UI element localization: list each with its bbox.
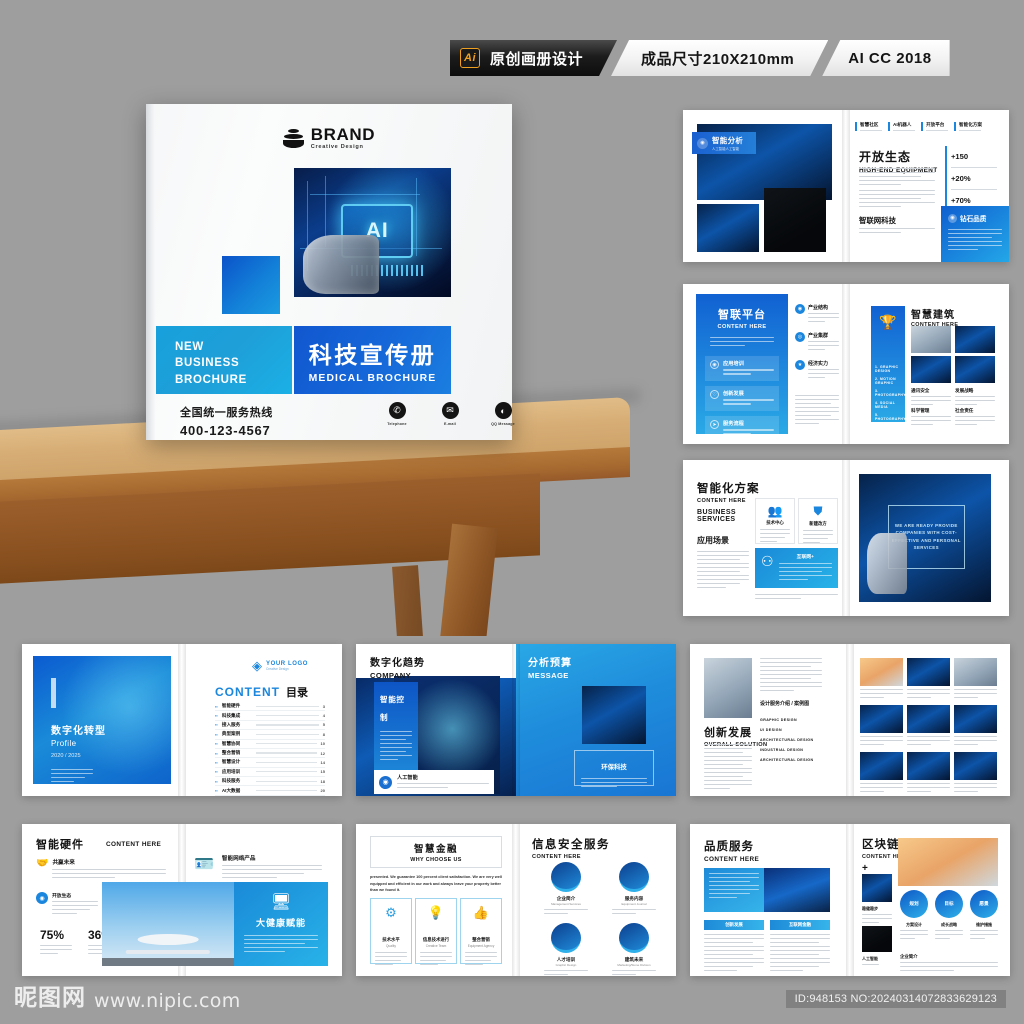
s2-item-1-icon: ♡ bbox=[710, 390, 719, 399]
s3-hero-photo: WE ARE READY PROVIDE COMPANIES WITH COST… bbox=[859, 474, 991, 602]
spread-smart-solution: 智能化方案 CONTENT HERE BUSINESS SERVICES 应用场… bbox=[683, 460, 1009, 616]
toc-bullet-icon: ▪▪ bbox=[215, 751, 218, 756]
feature-circle-lines bbox=[544, 970, 588, 975]
toc-page: 18 bbox=[321, 779, 325, 784]
s8-right-en: CONTENT HERE bbox=[532, 854, 610, 860]
book-spine bbox=[146, 104, 155, 440]
s1-badge: ◉ 智能分析 人工智能人工智能 bbox=[692, 132, 756, 154]
toc-dots bbox=[256, 715, 319, 716]
grid-cell-image bbox=[907, 752, 950, 780]
s7-panel: 🖥 大健康赋能 bbox=[234, 882, 328, 966]
s1-photo-2 bbox=[697, 204, 759, 252]
s8-card-0: ⚙ 技术水平 Quality bbox=[370, 898, 412, 964]
s2-item-2-icon: ➤ bbox=[710, 420, 719, 429]
toc-bullet-icon: ▪▪ bbox=[215, 722, 218, 727]
toc-page: 5 bbox=[323, 722, 325, 727]
s7-airplane-photo bbox=[102, 882, 234, 966]
s3-title-block: 智能化方案 CONTENT HERE BUSINESS SERVICES 应用场… bbox=[697, 480, 760, 591]
s5-box: 环保科技 bbox=[574, 750, 654, 786]
s5-panel-cn: 智能控制 bbox=[380, 695, 405, 722]
s3-card-0: 👥 技术中心 bbox=[755, 498, 795, 544]
feature-circle: 企业简介Management Services bbox=[532, 862, 600, 917]
s1-badge-title: 智能分析 bbox=[712, 135, 743, 146]
s3-title-en2: BUSINESS bbox=[697, 509, 760, 516]
step-circle-label: 愿景 bbox=[979, 901, 988, 907]
toc-bullet-icon: ▪▪ bbox=[215, 788, 218, 793]
grid-cell-image bbox=[954, 658, 997, 686]
step-circle-badge: 规划 bbox=[900, 890, 928, 918]
s5-panel: 智能控制 READ MORE YOUR TITLE HERE bbox=[374, 682, 418, 780]
s1-stat-1: +20% bbox=[945, 168, 997, 190]
monitor-icon: 🖥 bbox=[244, 892, 318, 912]
ribbon-tag3-label: AI CC 2018 bbox=[848, 50, 931, 67]
s7-panel-cn: 大健康赋能 bbox=[244, 916, 318, 929]
toc-page: 15 bbox=[321, 769, 325, 774]
s6-services: GRAPHIC DESIGN UI DESIGN ARCHITECTURAL D… bbox=[760, 712, 822, 762]
ribbon-tag-size: 成品尺寸210X210mm bbox=[611, 40, 828, 76]
grid-cell-lines bbox=[954, 736, 997, 745]
spread-digital-trend: 数字化趋势 COMPANY 智能控制 READ MORE YOUR TITLE … bbox=[356, 644, 676, 796]
s4-left-cover: 数字化转型 Profile 2020 / 2025 bbox=[33, 656, 171, 784]
s7-title-en: CONTENT HERE bbox=[106, 841, 161, 848]
s4-left-year: 2020 / 2025 bbox=[51, 753, 106, 759]
s2-mid-1: ◎ 产业集群 bbox=[795, 332, 839, 353]
shield-icon: ⛊ bbox=[803, 504, 833, 519]
toc-page: 14 bbox=[321, 760, 325, 765]
brochure-cover: BRAND Creative Design AI NEW BUSINESS BR… bbox=[146, 104, 512, 440]
toc-dots bbox=[256, 790, 317, 791]
s3-title-cn: 智能化方案 bbox=[697, 480, 760, 496]
toc-dots bbox=[256, 743, 317, 744]
s7-title-block: 智能硬件 CONTENT HERE bbox=[36, 836, 161, 852]
feature-circle-lines bbox=[544, 909, 588, 914]
toc-dots bbox=[256, 752, 317, 753]
toc-label: 科技服务 bbox=[222, 778, 252, 784]
cover-band-left: NEW BUSINESS BROCHURE bbox=[156, 326, 292, 394]
cover-band-line2: BUSINESS bbox=[175, 355, 292, 371]
s1-photo-3 bbox=[764, 188, 826, 252]
toc-row[interactable]: ▪▪科技服务18 bbox=[215, 777, 325, 786]
grid-cell-lines bbox=[860, 736, 903, 745]
step-circle-label: 目标 bbox=[944, 901, 953, 907]
s7-item-2-icon: ◉ bbox=[36, 892, 48, 904]
toc-bullet-icon: ▪▪ bbox=[215, 704, 218, 709]
s2-mid-2-icon: ★ bbox=[795, 360, 805, 370]
toc-label: 接入服务 bbox=[222, 722, 252, 728]
grid-cell-lines bbox=[860, 689, 903, 698]
s6-photo bbox=[704, 658, 752, 718]
toc-dots bbox=[256, 771, 317, 772]
toc-row[interactable]: ▪▪整合营销12 bbox=[215, 749, 325, 758]
s2-grid-img-0 bbox=[911, 326, 951, 353]
s9-circle-row: 规划方案设计目标成长战略愿景维护措施 bbox=[900, 890, 1000, 942]
toc-page: 12 bbox=[321, 751, 325, 756]
s3-title-en: CONTENT HERE bbox=[697, 498, 760, 504]
s5-tag: ◉ 人工智能 bbox=[374, 770, 494, 794]
spread-profile-toc: 数字化转型 Profile 2020 / 2025 ◈ YOUR LOGO Cr… bbox=[22, 644, 342, 796]
contact-email: ✉ E-mail bbox=[435, 402, 465, 426]
s9-title-en: CONTENT HERE bbox=[704, 856, 759, 863]
s1-panel: ◉ 钻石品质 bbox=[941, 206, 1009, 262]
grid-cell bbox=[860, 752, 903, 795]
qq-icon: ◐ bbox=[495, 402, 512, 419]
cover-blue-square bbox=[222, 256, 280, 314]
toc-bullet-icon: ▪▪ bbox=[215, 769, 218, 774]
s5-tag-icon: ◉ bbox=[379, 776, 392, 789]
grid-cell-image bbox=[860, 658, 903, 686]
s2-mid-0: ◉ 产业结构 bbox=[795, 304, 839, 325]
s8-title-en: WHY CHOOSE US bbox=[410, 857, 462, 863]
cover-band-line3: BROCHURE bbox=[175, 372, 292, 388]
s1-tab-row: 智慧社区 AI机器人 开放平台 智能化方案 bbox=[855, 122, 982, 131]
feature-circle: 服务内容Equipment Journal bbox=[600, 862, 668, 917]
grid-cell-image bbox=[860, 752, 903, 780]
diamond-logo-icon: ◈ bbox=[252, 658, 262, 674]
thumb-icon: 👍 bbox=[465, 905, 497, 921]
toc-page: 4 bbox=[323, 713, 325, 718]
step-circle-cap: 方案设计 bbox=[900, 922, 928, 928]
grid-cell bbox=[954, 752, 997, 795]
cover-title-cn: 科技宣传册 bbox=[309, 336, 437, 370]
s2-title-cn: 智联平台 bbox=[696, 306, 788, 322]
toc-label: 典型案例 bbox=[222, 731, 252, 737]
feature-circle-image bbox=[551, 862, 581, 892]
network-icon: ⚇ bbox=[761, 553, 774, 583]
s4-toc-list: ▪▪智能硬件3▪▪科技集成4▪▪接入服务5▪▪典型案例8▪▪智慧协同10▪▪整合… bbox=[215, 702, 325, 796]
toc-row[interactable]: ▪▪AI大数据20 bbox=[215, 786, 325, 795]
feature-circle-image bbox=[619, 862, 649, 892]
feature-circle-image bbox=[619, 923, 649, 953]
s1-body-2 bbox=[859, 190, 935, 210]
profile-card-icon: 🪪 bbox=[194, 854, 214, 881]
toc-row[interactable]: ▪▪智慧协同10 bbox=[215, 740, 325, 749]
toc-page: 8 bbox=[323, 732, 325, 737]
step-circle-lines bbox=[935, 930, 963, 939]
spread-quality-service: 品质服务 CONTENT HERE 创新发展 互联网金融 区块链技术 CONTE… bbox=[690, 824, 1010, 976]
people-icon: 👥 bbox=[760, 504, 790, 518]
s2-mid-list: ◉ 产业结构 ◎ 产业集群 ★ 经济实力 bbox=[795, 304, 839, 427]
phone-icon: ✆ bbox=[389, 402, 406, 419]
s1-tab-3[interactable]: 智能化方案 bbox=[954, 122, 982, 131]
s1-body-3 bbox=[859, 228, 935, 236]
s9-city-photo bbox=[764, 868, 830, 912]
s6-sub-cn: 设计服务介绍 / 案例图 bbox=[760, 700, 809, 707]
brand-name: BRAND bbox=[311, 126, 375, 143]
spread-smart-finance: 智慧金融 WHY CHOOSE US presented. We guarant… bbox=[356, 824, 676, 976]
s4-content-heading: CONTENT 目录 bbox=[215, 684, 308, 700]
spread-smart-hardware: 智能硬件 CONTENT HERE 🤝 共赢未来 ◉ 开放生态 75% 36% bbox=[22, 824, 342, 976]
toc-row[interactable]: ▪▪应用培训15 bbox=[215, 768, 325, 777]
s9-photo-small-1 bbox=[862, 874, 892, 902]
s9-tab-0[interactable]: 创新发展 bbox=[704, 920, 764, 930]
toc-dots bbox=[256, 734, 319, 735]
s6-title-cn: 创新发展 bbox=[704, 724, 767, 740]
s4-content-en: CONTENT bbox=[215, 685, 280, 699]
s8-right-cn: 信息安全服务 bbox=[532, 836, 610, 852]
toc-dots bbox=[256, 706, 319, 707]
s3-card-blue: ⚇ 互联网+ bbox=[755, 548, 838, 588]
toc-row[interactable]: ▪▪智慧设计14 bbox=[215, 758, 325, 767]
s7-item-1: 🤝 共赢未来 bbox=[36, 858, 166, 881]
grid-cell-image bbox=[954, 752, 997, 780]
robot-arm-graphic bbox=[303, 235, 378, 294]
s2-right-cn: 智慧建筑 bbox=[911, 306, 958, 321]
s5-right-cn: 分析预算 bbox=[528, 654, 572, 669]
s2-grid-img-1 bbox=[955, 326, 995, 353]
s5-title-block: 数字化趋势 COMPANY bbox=[370, 654, 425, 680]
asset-id-badge: ID:948153 NO:20240314072833629123 bbox=[786, 990, 1006, 1008]
feature-circle-lines bbox=[612, 909, 656, 914]
s4-logo: ◈ YOUR LOGO Creative Design bbox=[252, 658, 308, 674]
toc-label: 智慧协同 bbox=[222, 741, 252, 747]
s2-item-0: ◉ 应用培训 bbox=[705, 356, 779, 381]
toc-label: 智能硬件 bbox=[222, 703, 252, 709]
s4-left-cn: 数字化转型 bbox=[51, 722, 106, 737]
s5-tag-cn: 人工智能 bbox=[397, 774, 494, 781]
s8-right-title: 信息安全服务 CONTENT HERE bbox=[532, 836, 610, 860]
s2-left-panel: 智联平台 CONTENT HERE ◉ 应用培训 ♡ 创新发展 ➤ 服务流程 bbox=[696, 294, 788, 434]
cover-hero-image: AI bbox=[294, 168, 451, 297]
s2-item-0-icon: ◉ bbox=[710, 360, 719, 369]
grid-cell bbox=[907, 658, 950, 701]
s8-intro: presented. We guarantee 100 percent clie… bbox=[370, 874, 502, 894]
s3-sub-cn: 应用场景 bbox=[697, 535, 760, 546]
toc-dots bbox=[256, 781, 317, 782]
toc-bullet-icon: ▪▪ bbox=[215, 760, 218, 765]
s1-tab-1[interactable]: AI机器人 bbox=[888, 122, 915, 131]
cover-hotline: 全国统一服务热线 400-123-4567 bbox=[180, 404, 273, 438]
table-leg-rear bbox=[392, 565, 426, 636]
s5-box-cn: 环保科技 bbox=[601, 764, 627, 771]
step-circle-cap: 维护措施 bbox=[970, 922, 998, 928]
hotline-number: 400-123-4567 bbox=[180, 423, 273, 438]
s6-image-grid bbox=[860, 658, 1000, 795]
s9-building-photo bbox=[898, 838, 998, 886]
toc-page: 20 bbox=[321, 788, 325, 793]
step-circle: 目标成长战略 bbox=[935, 890, 963, 942]
cover-contact-icons: ✆ Telephone ✉ E-mail ◐ QQ Message bbox=[382, 402, 518, 426]
step-circle-lines bbox=[900, 930, 928, 939]
site-watermark: 昵图网 www.nipic.com bbox=[14, 978, 241, 1012]
s2-mid-1-icon: ◎ bbox=[795, 332, 805, 342]
s4-logo-sub: Creative Design bbox=[266, 667, 308, 671]
brand-logo: BRAND Creative Design bbox=[146, 126, 512, 151]
cover-title-en: MEDICAL BROCHURE bbox=[309, 373, 437, 384]
gears-icon: ⚙ bbox=[375, 905, 407, 921]
feature-circle-en: Graphic Design bbox=[532, 963, 600, 967]
s8-card-1: 💡 信息技术进行 Creative Team bbox=[415, 898, 457, 964]
grid-cell-image bbox=[907, 705, 950, 733]
cover-band-right: 科技宣传册 MEDICAL BROCHURE bbox=[294, 326, 451, 394]
step-circle-label: 规划 bbox=[909, 901, 918, 907]
s7-stat-1: 75% bbox=[40, 928, 72, 942]
hotline-label: 全国统一服务热线 bbox=[180, 404, 273, 420]
s2-mid-2: ★ 经济实力 bbox=[795, 360, 839, 381]
feature-circle-en: Equipment Journal bbox=[600, 902, 668, 906]
screenshot-root: Ai 原创画册设计 成品尺寸210X210mm AI CC 2018 BRAND… bbox=[0, 0, 1024, 1024]
s9-cap-2: 人工智能 bbox=[862, 956, 892, 968]
s2-item-1: ♡ 创新发展 bbox=[705, 386, 779, 411]
contact-qq-caption: QQ Message bbox=[488, 422, 518, 426]
grid-cell bbox=[860, 658, 903, 701]
s5-right-en: MESSAGE bbox=[528, 671, 572, 680]
toc-dots bbox=[256, 724, 319, 725]
feature-circle-en: Management Services bbox=[532, 902, 600, 906]
s7-item-2: ◉ 开放生态 bbox=[36, 892, 98, 917]
s2-right-title: 智慧建筑 CONTENT HERE bbox=[911, 306, 958, 328]
contact-qq: ◐ QQ Message bbox=[488, 402, 518, 426]
contact-telephone: ✆ Telephone bbox=[382, 402, 412, 426]
ribbon-tag-version: AI CC 2018 bbox=[822, 40, 949, 76]
step-circle-badge: 目标 bbox=[935, 890, 963, 918]
s9-cap-1: 稳健稳步 bbox=[862, 906, 892, 926]
s9-photo-small-2 bbox=[862, 926, 892, 952]
s1-title-cn: 开放生态 bbox=[859, 148, 938, 165]
toc-row[interactable]: ▪▪科技集成4 bbox=[215, 711, 325, 720]
toc-label: 应用培训 bbox=[222, 769, 252, 775]
toc-page: 3 bbox=[323, 704, 325, 709]
globe-icon bbox=[283, 128, 304, 149]
toc-dots bbox=[256, 762, 317, 763]
handshake-icon: 🤝 bbox=[36, 858, 48, 869]
s1-sub-cn: 智联网科技 bbox=[859, 215, 896, 226]
grid-cell-lines bbox=[907, 689, 950, 698]
trophy-icon: 🏆 bbox=[875, 314, 901, 331]
s2-grid-img-3 bbox=[955, 356, 995, 383]
toc-bullet-icon: ▪▪ bbox=[215, 779, 218, 784]
s9-title-block: 品质服务 CONTENT HERE bbox=[704, 838, 759, 863]
s2-grid-cap-1: 发展战略 bbox=[955, 388, 995, 408]
grid-cell-image bbox=[907, 658, 950, 686]
s2-grid-cap-0: 通讯安全 bbox=[911, 388, 951, 408]
email-icon: ✉ bbox=[442, 402, 459, 419]
ai-icon: Ai bbox=[460, 48, 480, 68]
header-ribbon: Ai 原创画册设计 成品尺寸210X210mm AI CC 2018 bbox=[450, 40, 950, 76]
ribbon-tag2-label: 成品尺寸210X210mm bbox=[641, 48, 794, 69]
s1-panel-icon: ◉ bbox=[948, 214, 957, 223]
toc-bullet-icon: ▪▪ bbox=[215, 732, 218, 737]
s2-title-en: CONTENT HERE bbox=[696, 324, 788, 330]
feature-circle-lines bbox=[612, 970, 656, 975]
s5-title-en: COMPANY bbox=[370, 671, 425, 680]
cover-band-line1: NEW bbox=[175, 339, 292, 355]
s2-grid-cap-2: 科学管理 bbox=[911, 408, 951, 428]
toc-page: 10 bbox=[321, 741, 325, 746]
s4-content-cn: 目录 bbox=[286, 684, 308, 700]
grid-cell bbox=[860, 705, 903, 748]
toc-bullet-icon: ▪▪ bbox=[215, 713, 218, 718]
s3-card-1: ⛊ 新建改方 bbox=[798, 498, 838, 544]
s9-tab-1[interactable]: 互联网金融 bbox=[770, 920, 830, 930]
watermark-cn: 昵图网 bbox=[14, 978, 86, 1012]
watermark-url: www.nipic.com bbox=[94, 990, 241, 1012]
bulb-icon: 💡 bbox=[420, 905, 452, 921]
s8-title-box: 智慧金融 WHY CHOOSE US bbox=[370, 836, 502, 868]
s1-badge-sub: 人工智能人工智能 bbox=[712, 146, 743, 151]
s1-tab-0[interactable]: 智慧社区 bbox=[855, 122, 882, 131]
s9-title-cn: 品质服务 bbox=[704, 838, 759, 854]
toc-label: 科技集成 bbox=[222, 713, 252, 719]
spread-open-ecosystem: ◉ 智能分析 人工智能人工智能 智慧社区 AI机器人 开放平台 智能化方案 bbox=[683, 110, 1009, 262]
s9-text-block bbox=[704, 868, 764, 912]
s1-stat-0: +150 bbox=[945, 146, 997, 168]
toc-row[interactable]: ▪▪接入服务5 bbox=[215, 721, 325, 730]
s5-right-title: 分析预算 MESSAGE bbox=[528, 654, 572, 680]
s9-cap-3: 企业简介 bbox=[900, 954, 998, 974]
s2-grid-img-2 bbox=[911, 356, 951, 383]
grid-cell-image bbox=[860, 705, 903, 733]
toc-label: 智慧设计 bbox=[222, 759, 252, 765]
s5-right-photo bbox=[582, 686, 646, 744]
toc-row[interactable]: ▪▪典型案例8 bbox=[215, 730, 325, 739]
toc-label: AI大数据 bbox=[222, 788, 252, 794]
feature-circle: 建筑未来Marketing/Stone Division bbox=[600, 923, 668, 976]
grid-cell bbox=[954, 705, 997, 748]
grid-cell bbox=[907, 705, 950, 748]
contact-email-caption: E-mail bbox=[435, 422, 465, 426]
s8-title-cn: 智慧金融 bbox=[414, 841, 458, 855]
grid-cell-lines bbox=[907, 736, 950, 745]
ribbon-tag1-label: 原创画册设计 bbox=[490, 48, 583, 69]
s2-right-panel: 🏆 1. GRAPHIC DESIGN 2. MOTION GRAPHIC 3.… bbox=[871, 306, 905, 422]
feature-circle-en: Marketing/Stone Division bbox=[600, 963, 668, 967]
contact-telephone-caption: Telephone bbox=[382, 422, 412, 426]
grid-cell bbox=[907, 752, 950, 795]
s2-item-2: ➤ 服务流程 bbox=[705, 416, 779, 441]
s7-right-item: 🪪 智能网络产品 bbox=[194, 854, 322, 881]
spread-innovation: 创新发展 OVERALL SOLUTION 设计服务介绍 / 案例图 GRAPH… bbox=[690, 644, 1010, 796]
s5-title-cn: 数字化趋势 bbox=[370, 654, 425, 669]
s3-title-en3: SERVICES bbox=[697, 516, 760, 523]
s7-title-cn: 智能硬件 bbox=[36, 836, 84, 852]
s8-circle-grid: 企业简介Management Services服务内容Equipment Jou… bbox=[532, 862, 668, 976]
s1-tab-2[interactable]: 开放平台 bbox=[921, 122, 948, 131]
toc-label: 整合营销 bbox=[222, 750, 252, 756]
s8-card-2: 👍 整合营销 Equipment Agency bbox=[460, 898, 502, 964]
s2-grid-cap-3: 社会责任 bbox=[955, 408, 995, 428]
ribbon-tag-original: Ai 原创画册设计 bbox=[450, 40, 617, 76]
step-circle-lines bbox=[970, 930, 998, 939]
step-circle: 规划方案设计 bbox=[900, 890, 928, 942]
spread-smart-platform: 智联平台 CONTENT HERE ◉ 应用培训 ♡ 创新发展 ➤ 服务流程 bbox=[683, 284, 1009, 444]
s1-badge-icon: ◉ bbox=[697, 138, 708, 149]
feature-circle: 人才培训Graphic Design bbox=[532, 923, 600, 976]
grid-cell-lines bbox=[907, 783, 950, 792]
grid-cell-lines bbox=[954, 689, 997, 698]
grid-cell-lines bbox=[954, 783, 997, 792]
step-circle-badge: 愿景 bbox=[970, 890, 998, 918]
toc-bullet-icon: ▪▪ bbox=[215, 741, 218, 746]
grid-cell-lines bbox=[860, 783, 903, 792]
s4-left-en: Profile bbox=[51, 739, 106, 748]
s2-mid-0-icon: ◉ bbox=[795, 304, 805, 314]
s1-panel-title: 钻石品质 bbox=[960, 213, 986, 223]
grid-cell-image bbox=[954, 705, 997, 733]
grid-cell bbox=[954, 658, 997, 701]
step-circle: 愿景维护措施 bbox=[970, 890, 998, 942]
brand-tagline: Creative Design bbox=[311, 145, 375, 151]
step-circle-cap: 成长战略 bbox=[935, 922, 963, 928]
s1-body-1 bbox=[859, 168, 935, 188]
feature-circle-image bbox=[551, 923, 581, 953]
toc-row[interactable]: ▪▪智能硬件3 bbox=[215, 702, 325, 711]
